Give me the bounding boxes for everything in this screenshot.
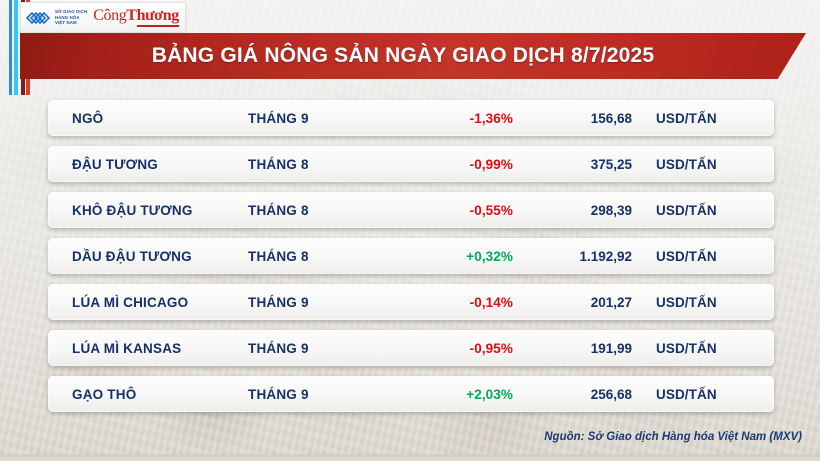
- price-unit: USD/TẤN: [638, 341, 758, 356]
- logo-bar: SỞ GIAO DỊCH HÀNG HÓA VIỆT NAM CôngThươn…: [20, 2, 186, 33]
- change-percent: +0,32%: [388, 249, 513, 264]
- table-row: GẠO THÔTHÁNG 9+2,03%256,68USD/TẤN: [48, 376, 774, 412]
- mxv-logo-line-3: VIỆT NAM: [55, 20, 87, 26]
- price-value: 191,99: [513, 341, 638, 356]
- cong-thuong-logo: CôngThương: [93, 8, 179, 27]
- price-unit: USD/TẤN: [638, 295, 758, 310]
- change-percent: +2,03%: [388, 387, 513, 402]
- commodity-name: LÚA MÌ KANSAS: [48, 341, 248, 356]
- commodity-name: GẠO THÔ: [48, 387, 248, 402]
- accent-bar-blue: [9, 0, 12, 95]
- price-board-infographic: SỞ GIAO DỊCH HÀNG HÓA VIỆT NAM CôngThươn…: [0, 0, 820, 461]
- accent-bar-cyan: [14, 0, 18, 95]
- table-row: LÚA MÌ CHICAGOTHÁNG 9-0,14%201,27USD/TẤN: [48, 284, 774, 320]
- table-row: LÚA MÌ KANSASTHÁNG 9-0,95%191,99USD/TẤN: [48, 330, 774, 366]
- commodity-name: LÚA MÌ CHICAGO: [48, 295, 248, 310]
- price-value: 256,68: [513, 387, 638, 402]
- price-value: 156,68: [513, 111, 638, 126]
- table-row: KHÔ ĐẬU TƯƠNGTHÁNG 8-0,55%298,39USD/TẤN: [48, 192, 774, 228]
- contract-month: THÁNG 8: [248, 249, 388, 264]
- table-row: DẦU ĐẬU TƯƠNGTHÁNG 8+0,32%1.192,92USD/TẤ…: [48, 238, 774, 274]
- price-value: 298,39: [513, 203, 638, 218]
- change-percent: -0,99%: [388, 157, 513, 172]
- contract-month: THÁNG 9: [248, 341, 388, 356]
- commodity-price-table: NGÔTHÁNG 9-1,36%156,68USD/TẤNĐẬU TƯƠNGTH…: [48, 100, 774, 422]
- contract-month: THÁNG 8: [248, 157, 388, 172]
- price-unit: USD/TẤN: [638, 157, 758, 172]
- table-row: NGÔTHÁNG 9-1,36%156,68USD/TẤN: [48, 100, 774, 136]
- price-unit: USD/TẤN: [638, 249, 758, 264]
- commodity-name: DẦU ĐẬU TƯƠNG: [48, 249, 248, 264]
- table-row: ĐẬU TƯƠNGTHÁNG 8-0,99%375,25USD/TẤN: [48, 146, 774, 182]
- change-percent: -0,14%: [388, 295, 513, 310]
- contract-month: THÁNG 8: [248, 203, 388, 218]
- mxv-logo-text: SỞ GIAO DỊCH HÀNG HÓA VIỆT NAM: [55, 9, 87, 26]
- price-unit: USD/TẤN: [638, 203, 758, 218]
- price-unit: USD/TẤN: [638, 111, 758, 126]
- change-percent: -0,95%: [388, 341, 513, 356]
- mxv-wave-logo-icon: [25, 8, 51, 28]
- cong-thuong-word-2: Thương: [126, 7, 179, 24]
- cong-thuong-word-1: Công: [93, 7, 126, 24]
- mxv-logo-line-1: SỞ GIAO DỊCH: [55, 9, 87, 15]
- title-banner: BẢNG GIÁ NÔNG SẢN NGÀY GIAO DỊCH 8/7/202…: [20, 33, 806, 79]
- contract-month: THÁNG 9: [248, 387, 388, 402]
- price-value: 201,27: [513, 295, 638, 310]
- commodity-name: KHÔ ĐẬU TƯƠNG: [48, 203, 248, 218]
- change-percent: -1,36%: [388, 111, 513, 126]
- price-value: 375,25: [513, 157, 638, 172]
- contract-month: THÁNG 9: [248, 111, 388, 126]
- commodity-name: NGÔ: [48, 111, 248, 126]
- source-note: Nguồn: Sở Giao dịch Hàng hóa Việt Nam (M…: [544, 431, 802, 443]
- change-percent: -0,55%: [388, 203, 513, 218]
- price-unit: USD/TẤN: [638, 387, 758, 402]
- cong-thuong-underline: [137, 25, 179, 27]
- footer-strip: [0, 454, 820, 461]
- commodity-name: ĐẬU TƯƠNG: [48, 157, 248, 172]
- contract-month: THÁNG 9: [248, 295, 388, 310]
- page-title: BẢNG GIÁ NÔNG SẢN NGÀY GIAO DỊCH 8/7/202…: [152, 44, 655, 68]
- price-value: 1.192,92: [513, 249, 638, 264]
